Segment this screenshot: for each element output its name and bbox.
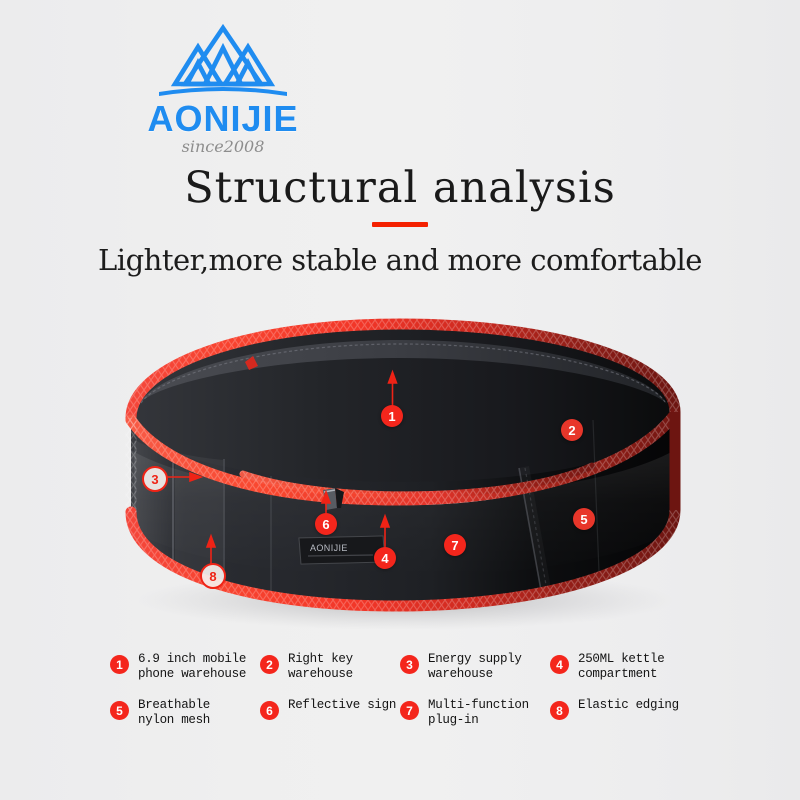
callout-marker-6: 6 [315, 513, 337, 535]
legend-badge-4: 4 [550, 655, 569, 674]
legend-badge-3: 3 [400, 655, 419, 674]
legend-label-1: 6.9 inch mobile phone warehouse [138, 648, 246, 682]
callout-marker-7: 7 [444, 534, 466, 556]
legend-item-5: 5Breathable nylon mesh [110, 694, 260, 728]
callout-arrows [95, 300, 710, 630]
callout-marker-1: 1 [381, 405, 403, 427]
brand-logo: AONIJIE since2008 [128, 22, 318, 162]
product-photo: AONIJIE [95, 300, 710, 630]
legend-badge-7: 7 [400, 701, 419, 720]
callout-marker-5: 5 [573, 508, 595, 530]
legend-label-6: Reflective sign [288, 694, 396, 713]
legend-badge-8: 8 [550, 701, 569, 720]
legend-row: 16.9 inch mobile phone warehouse2Right k… [110, 648, 710, 682]
page-subtitle: Lighter,more stable and more comfortable [0, 243, 800, 277]
legend-item-2: 2Right key warehouse [260, 648, 400, 682]
callout-marker-4: 4 [374, 547, 396, 569]
legend-badge-2: 2 [260, 655, 279, 674]
legend-item-7: 7Multi-function plug-in [400, 694, 550, 728]
legend-badge-5: 5 [110, 701, 129, 720]
legend-item-3: 3Energy supply warehouse [400, 648, 550, 682]
legend-label-7: Multi-function plug-in [428, 694, 529, 728]
callout-marker-2: 2 [561, 419, 583, 441]
legend-badge-6: 6 [260, 701, 279, 720]
legend: 16.9 inch mobile phone warehouse2Right k… [110, 648, 710, 740]
title-divider [372, 222, 428, 227]
legend-item-8: 8Elastic edging [550, 694, 700, 728]
brand-tagline: since2008 [128, 137, 318, 156]
mountain-peaks-icon [157, 22, 289, 106]
page-title: Structural analysis [0, 163, 800, 213]
callout-marker-8: 8 [200, 563, 226, 589]
legend-label-8: Elastic edging [578, 694, 679, 713]
legend-label-5: Breathable nylon mesh [138, 694, 210, 728]
callout-marker-3: 3 [142, 466, 168, 492]
legend-badge-1: 1 [110, 655, 129, 674]
legend-row: 5Breathable nylon mesh6Reflective sign7M… [110, 694, 710, 728]
legend-label-4: 250ML kettle compartment [578, 648, 664, 682]
legend-item-1: 16.9 inch mobile phone warehouse [110, 648, 260, 682]
legend-item-6: 6Reflective sign [260, 694, 400, 728]
legend-label-3: Energy supply warehouse [428, 648, 522, 682]
infographic-page: AONIJIE since2008 Structural analysis Li… [0, 0, 800, 800]
legend-item-4: 4250ML kettle compartment [550, 648, 700, 682]
legend-label-2: Right key warehouse [288, 648, 353, 682]
brand-wordmark: AONIJIE [128, 102, 318, 136]
